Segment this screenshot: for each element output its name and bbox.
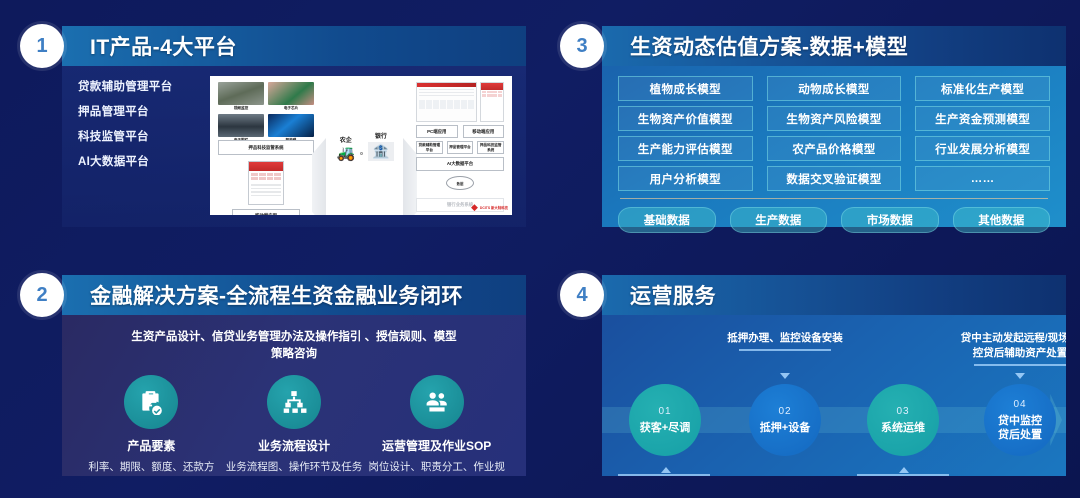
panel3-header: 生资动态估值方案-数据+模型 bbox=[602, 26, 1066, 66]
collateral-platform-box: 押品管理平台 bbox=[447, 141, 474, 154]
data-source-row: 基础数据 生产数据 市场数据 其他数据 bbox=[618, 207, 1050, 233]
platform-item: AI大数据平台 bbox=[78, 153, 210, 169]
video-monitor-image bbox=[218, 82, 264, 105]
note-underline bbox=[857, 474, 949, 476]
platform-item: 贷款辅助管理平台 bbox=[78, 78, 210, 94]
column-heading: 产品要素 bbox=[81, 437, 221, 454]
slide-grid: IT产品-4大平台 1 贷款辅助管理平台 押品管理平台 科技监管平台 AI大数据… bbox=[0, 0, 1080, 498]
thumbnail-caption: 视频监控 bbox=[218, 105, 264, 111]
step-label: 贷中监控 贷后处置 bbox=[998, 414, 1042, 442]
smart-eye-image bbox=[268, 114, 314, 137]
step-note: 抵押办理、监控设备安装 bbox=[721, 331, 849, 351]
ai-bigdata-box: AI大数据平台 bbox=[416, 157, 504, 171]
mobile-header-bar bbox=[481, 83, 503, 90]
farm-actor: 农企 🚜 bbox=[336, 135, 355, 161]
step-tick-icon bbox=[780, 373, 790, 379]
phone-icon-grid bbox=[249, 171, 283, 182]
data-cycle: 数据 bbox=[416, 176, 504, 192]
mobile-screenshot bbox=[480, 82, 504, 122]
divider bbox=[620, 198, 1048, 199]
panel4-body: 01 获客+尽调 线下获客、辅助实地走访尽调 02 抵押+设备 bbox=[602, 315, 1066, 476]
step-number: 03 bbox=[896, 406, 909, 417]
platform-list: 贷款辅助管理平台 押品管理平台 科技监管平台 AI大数据平台 bbox=[62, 66, 210, 227]
platform-item: 科技监管平台 bbox=[78, 128, 210, 144]
process-step[interactable]: 03 系统运维 bbox=[860, 384, 946, 456]
panel-valuation-models: 生资动态估值方案-数据+模型 3 植物成长模型 动物成长模型 标准化生产模型 生… bbox=[540, 0, 1080, 249]
note-text: 抵押办理、监控设备安装 bbox=[721, 331, 849, 346]
process-step[interactable]: 01 获客+尽调 bbox=[622, 384, 708, 456]
mobile-app-box-left: 移动端应用 bbox=[232, 209, 300, 215]
bank-icon-box: 🏦 bbox=[368, 142, 393, 161]
model-cell-more[interactable]: …… bbox=[915, 166, 1050, 191]
phone-header-bar bbox=[249, 162, 283, 171]
step-note: IT产品运维 bbox=[839, 474, 967, 476]
step-label: 抵押+设备 bbox=[760, 421, 810, 435]
farm-label: 农企 bbox=[336, 135, 355, 144]
step-number: 01 bbox=[658, 406, 671, 417]
panel-it-products: IT产品-4大平台 1 贷款辅助管理平台 押品管理平台 科技监管平台 AI大数据… bbox=[0, 0, 540, 249]
panel2-subtitle: 生资产品设计、信贷业务管理办法及操作指引 、授信规则、模型策略咨询 bbox=[129, 329, 459, 363]
model-cell[interactable]: 生产能力评估模型 bbox=[618, 136, 753, 161]
device-thumbnails: 视频监控 电子芯片 电子围栏 bbox=[218, 82, 314, 146]
bank-building-icon: 🏦 bbox=[372, 144, 389, 159]
center-actors: 农企 🚜 银行 🏦 bbox=[328, 131, 402, 161]
pc-screenshot bbox=[416, 82, 477, 122]
step-tick-icon bbox=[661, 467, 671, 473]
note-underline bbox=[739, 349, 831, 351]
tech-supervision-box: 押品科技监管系统 bbox=[477, 141, 504, 154]
panel3-body: 植物成长模型 动物成长模型 标准化生产模型 生物资产价值模型 生物资产风险模型 … bbox=[602, 66, 1066, 227]
step-label: 系统运维 bbox=[881, 421, 925, 435]
model-cell[interactable]: 数据交叉验证模型 bbox=[767, 166, 902, 191]
thumbnail: 智能眼 bbox=[268, 114, 314, 143]
app-boxes-row: PC端应用 移动端应用 bbox=[416, 125, 504, 138]
step-circle[interactable]: 02 抵押+设备 bbox=[749, 384, 821, 456]
fence-image bbox=[218, 114, 264, 137]
panel4-header: 运营服务 bbox=[602, 275, 1066, 315]
panel1-title: IT产品-4大平台 bbox=[90, 31, 237, 61]
thumbnail: 视频监控 bbox=[218, 82, 264, 111]
connector-dot bbox=[360, 152, 363, 155]
step-circle[interactable]: 04 贷中监控 贷后处置 bbox=[984, 384, 1056, 456]
note-text: 贷中主动发起远程/现场监控贷后辅助资产处置 bbox=[956, 331, 1066, 361]
cycle-ring: 数据 bbox=[446, 176, 474, 190]
panel4-title: 运营服务 bbox=[630, 280, 716, 310]
step-number: 02 bbox=[778, 406, 791, 417]
panel1-number-badge: 1 bbox=[20, 24, 64, 68]
data-source-chip[interactable]: 其他数据 bbox=[953, 207, 1051, 233]
model-cell[interactable]: 生物资产价值模型 bbox=[618, 106, 753, 131]
supervision-system-box: 押品科技监管系统 bbox=[218, 140, 314, 155]
org-chart-icon bbox=[267, 375, 321, 429]
thumbnail: 电子芯片 bbox=[268, 82, 314, 111]
step-tick-icon bbox=[899, 467, 909, 473]
process-steps: 01 获客+尽调 线下获客、辅助实地走访尽调 02 抵押+设备 bbox=[602, 315, 1066, 476]
model-cell[interactable]: 动物成长模型 bbox=[767, 76, 902, 101]
data-source-chip[interactable]: 生产数据 bbox=[730, 207, 828, 233]
chip-image bbox=[268, 82, 314, 105]
thumbnail-caption: 电子芯片 bbox=[268, 105, 314, 111]
model-cell[interactable]: 行业发展分析模型 bbox=[915, 136, 1050, 161]
thumbnail: 电子围栏 bbox=[218, 114, 264, 143]
step-number: 04 bbox=[1013, 399, 1026, 410]
panel-operation-service: 运营服务 4 01 获客+尽调 线下获客、辅助实地走访尽调 bbox=[540, 249, 1080, 498]
model-cell[interactable]: 用户分析模型 bbox=[618, 166, 753, 191]
model-cell[interactable]: 生物资产风险模型 bbox=[767, 106, 902, 131]
solution-column: 业务流程设计 业务流程图、操作环节及任务分流、运营细则 bbox=[224, 375, 364, 476]
step-label: 获客+尽调 bbox=[640, 421, 690, 435]
model-cell[interactable]: 标准化生产模型 bbox=[915, 76, 1050, 101]
column-text: 业务流程图、操作环节及任务分流、运营细则 bbox=[224, 459, 364, 476]
bank-side-stack: PC端应用 移动端应用 贷款辅助管理平台 押品管理平台 押品科技监管系统 AI大… bbox=[416, 82, 504, 209]
right-funnel-shape bbox=[403, 138, 417, 215]
step-circle[interactable]: 01 获客+尽调 bbox=[629, 384, 701, 456]
step-note: 线下获客、辅助实地走访尽调 bbox=[602, 474, 728, 476]
pc-app-box: PC端应用 bbox=[416, 125, 458, 138]
column-text: 利率、期限、额度、还款方式、还款规则、逾期规则、盈利测算 bbox=[81, 459, 221, 476]
tractor-icon: 🚜 bbox=[336, 146, 355, 161]
model-cell[interactable]: 农产品价格模型 bbox=[767, 136, 902, 161]
mobile-phone-mockup bbox=[248, 161, 284, 205]
panel4-number-badge: 4 bbox=[560, 273, 604, 317]
note-underline bbox=[974, 364, 1066, 366]
people-group-icon bbox=[410, 375, 464, 429]
model-cell[interactable]: 生产资金预测模型 bbox=[915, 106, 1050, 131]
model-cell[interactable]: 植物成长模型 bbox=[618, 76, 753, 101]
left-funnel-shape bbox=[312, 138, 326, 215]
panel1-header: IT产品-4大平台 bbox=[62, 26, 526, 66]
logo-text: DCITS 新大陆科技 bbox=[480, 206, 508, 210]
column-heading: 业务流程设计 bbox=[224, 437, 364, 454]
note-underline bbox=[618, 474, 710, 476]
solution-column: 运营管理及作业SOP 岗位设计、职责分工、作业规范、时效要求、操作培训 bbox=[367, 375, 507, 476]
panel3-title: 生资动态估值方案-数据+模型 bbox=[630, 31, 908, 61]
solution-column: 产品要素 利率、期限、额度、还款方式、还款规则、逾期规则、盈利测算 bbox=[81, 375, 221, 476]
data-source-chip[interactable]: 基础数据 bbox=[618, 207, 716, 233]
data-source-chip[interactable]: 市场数据 bbox=[841, 207, 939, 233]
screenshot-row bbox=[416, 82, 504, 122]
logo-mark-icon: ◆ bbox=[471, 202, 478, 213]
step-circle[interactable]: 03 系统运维 bbox=[867, 384, 939, 456]
bank-actor: 银行 🏦 bbox=[368, 131, 393, 161]
panel2-header: 金融解决方案-全流程生资金融业务闭环 bbox=[62, 275, 526, 315]
bank-label: 银行 bbox=[368, 131, 393, 140]
architecture-diagram: 视频监控 电子芯片 电子围栏 bbox=[210, 76, 512, 215]
panel2-body: 生资产品设计、信贷业务管理办法及操作指引 、授信规则、模型策略咨询 产品要素 利… bbox=[62, 315, 526, 476]
data-table bbox=[419, 100, 474, 110]
mobile-app-box: 移动端应用 bbox=[463, 125, 505, 138]
panel2-number-badge: 2 bbox=[20, 273, 64, 317]
solution-columns: 产品要素 利率、期限、额度、还款方式、还款规则、逾期规则、盈利测算 业务流程设计… bbox=[80, 375, 508, 476]
vendor-logo: ◆ DCITS 新大陆科技 bbox=[471, 202, 508, 213]
panel3-number-badge: 3 bbox=[560, 24, 604, 68]
panel2-title: 金融解决方案-全流程生资金融业务闭环 bbox=[90, 280, 463, 310]
phone-list-lines bbox=[249, 182, 283, 200]
step-note: 贷中主动发起远程/现场监控贷后辅助资产处置 bbox=[956, 331, 1066, 366]
panel1-body: 贷款辅助管理平台 押品管理平台 科技监管平台 AI大数据平台 视频监控 电子芯片 bbox=[62, 66, 526, 227]
clipboard-check-icon bbox=[124, 375, 178, 429]
panel-finance-solution: 金融解决方案-全流程生资金融业务闭环 2 生资产品设计、信贷业务管理办法及操作指… bbox=[0, 249, 540, 498]
loan-platform-box: 贷款辅助管理平台 bbox=[416, 141, 443, 154]
model-grid: 植物成长模型 动物成长模型 标准化生产模型 生物资产价值模型 生物资产风险模型 … bbox=[618, 76, 1050, 191]
process-step[interactable]: 04 贷中监控 贷后处置 bbox=[977, 384, 1063, 456]
column-heading: 运营管理及作业SOP bbox=[367, 437, 507, 454]
step-tick-icon bbox=[1015, 373, 1025, 379]
platform-item: 押品管理平台 bbox=[78, 103, 210, 119]
process-step[interactable]: 02 抵押+设备 bbox=[742, 384, 828, 456]
platform-boxes-row: 贷款辅助管理平台 押品管理平台 押品科技监管系统 bbox=[416, 141, 504, 154]
column-text: 岗位设计、职责分工、作业规范、时效要求、操作培训 bbox=[367, 459, 507, 476]
